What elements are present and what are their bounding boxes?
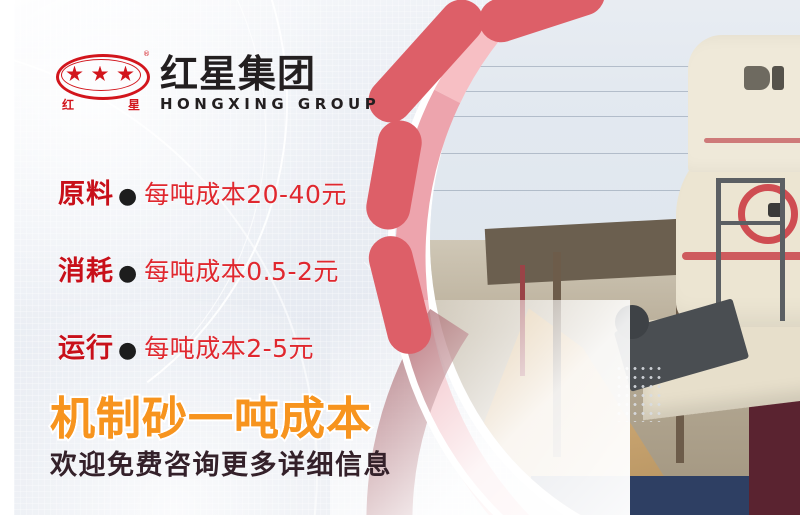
cost-row-desc: 每吨成本20-40元 (144, 175, 347, 211)
cost-list: 原料 ● 每吨成本20-40元 消耗 ● 每吨成本0.5-2元 运行 ● 每吨成… (58, 172, 347, 403)
star-icon (117, 66, 134, 83)
registered-trademark-icon: ® (143, 50, 150, 58)
brand-logo[interactable]: ® 红 星 红星集团 HONGXING GROUP (56, 50, 380, 116)
three-stars-icon (66, 63, 134, 85)
machine-photo (430, 0, 800, 530)
brand-name-en: HONGXING GROUP (160, 97, 380, 112)
promo-banner: ® 红 星 红星集团 HONGXING GROUP 原料 ● 每吨成本20-40… (0, 0, 800, 530)
star-icon (66, 66, 83, 83)
bullet-icon: ● (118, 263, 137, 285)
cost-row: 原料 ● 每吨成本20-40元 (58, 172, 347, 211)
cost-row-label: 运行 (58, 326, 114, 365)
frame-left-margin (0, 0, 14, 530)
subtitle: 欢迎免费咨询更多详细信息 (50, 443, 392, 482)
cost-row-label: 原料 (58, 172, 114, 211)
logo-mark-char-2: 星 (128, 96, 140, 113)
star-icon (92, 66, 109, 83)
brand-name-cn: 红星集团 (160, 55, 380, 93)
bullet-icon: ● (118, 186, 137, 208)
brand-wordmark: 红星集团 HONGXING GROUP (160, 55, 380, 112)
cost-row: 消耗 ● 每吨成本0.5-2元 (58, 249, 347, 288)
page-title: 机制砂一吨成本 (50, 382, 372, 447)
cost-row: 运行 ● 每吨成本2-5元 (58, 326, 347, 365)
machine-photo-content (430, 0, 800, 530)
cost-row-desc: 每吨成本0.5-2元 (144, 252, 339, 288)
hongxing-star-emblem-icon: ® 红 星 (56, 50, 148, 116)
frame-bottom-margin (0, 515, 800, 530)
cost-row-label: 消耗 (58, 249, 114, 288)
bullet-icon: ● (118, 340, 137, 362)
cost-row-desc: 每吨成本2-5元 (144, 329, 314, 365)
logo-mark-char-1: 红 (62, 96, 74, 113)
